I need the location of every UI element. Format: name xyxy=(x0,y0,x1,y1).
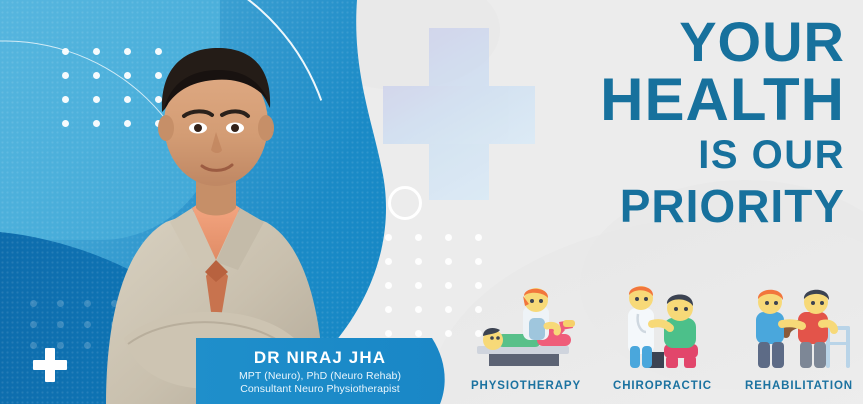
rehabilitation-walker-icon xyxy=(735,280,863,372)
doctor-name: DR NIRAJ JHA xyxy=(196,348,444,368)
healthcare-hero-banner: DR NIRAJ JHA MPT (Neuro), PhD (Neuro Reh… xyxy=(0,0,863,404)
service-chiropractic: CHIROPRACTIC xyxy=(599,280,727,392)
services-list: PHYSIOTHERAPY xyxy=(462,262,863,392)
doctor-designation: Consultant Neuro Physiotherapist xyxy=(196,383,444,396)
service-physiotherapy: PHYSIOTHERAPY xyxy=(462,280,590,392)
headline-line-4: PRIORITY xyxy=(325,180,845,232)
physiotherapy-table-icon xyxy=(462,280,590,372)
headline-line-2: HEALTH xyxy=(325,70,845,130)
service-label-physiotherapy: PHYSIOTHERAPY xyxy=(462,380,590,392)
doctor-credentials: MPT (Neuro), PhD (Neuro Rehab) Consultan… xyxy=(196,370,444,395)
service-label-rehabilitation: REHABILITATION xyxy=(735,380,863,392)
service-label-chiropractic: CHIROPRACTIC xyxy=(599,380,727,392)
headline-line-3: IS OUR xyxy=(325,130,845,180)
doctor-qualifications: MPT (Neuro), PhD (Neuro Rehab) xyxy=(196,370,444,383)
headline: YOUR HEALTH IS OUR PRIORITY xyxy=(325,14,845,232)
service-rehabilitation: REHABILITATION xyxy=(735,280,863,392)
white-medical-cross-icon xyxy=(33,348,67,382)
chiropractic-adjustment-icon xyxy=(599,280,727,372)
headline-line-1: YOUR xyxy=(325,14,845,70)
